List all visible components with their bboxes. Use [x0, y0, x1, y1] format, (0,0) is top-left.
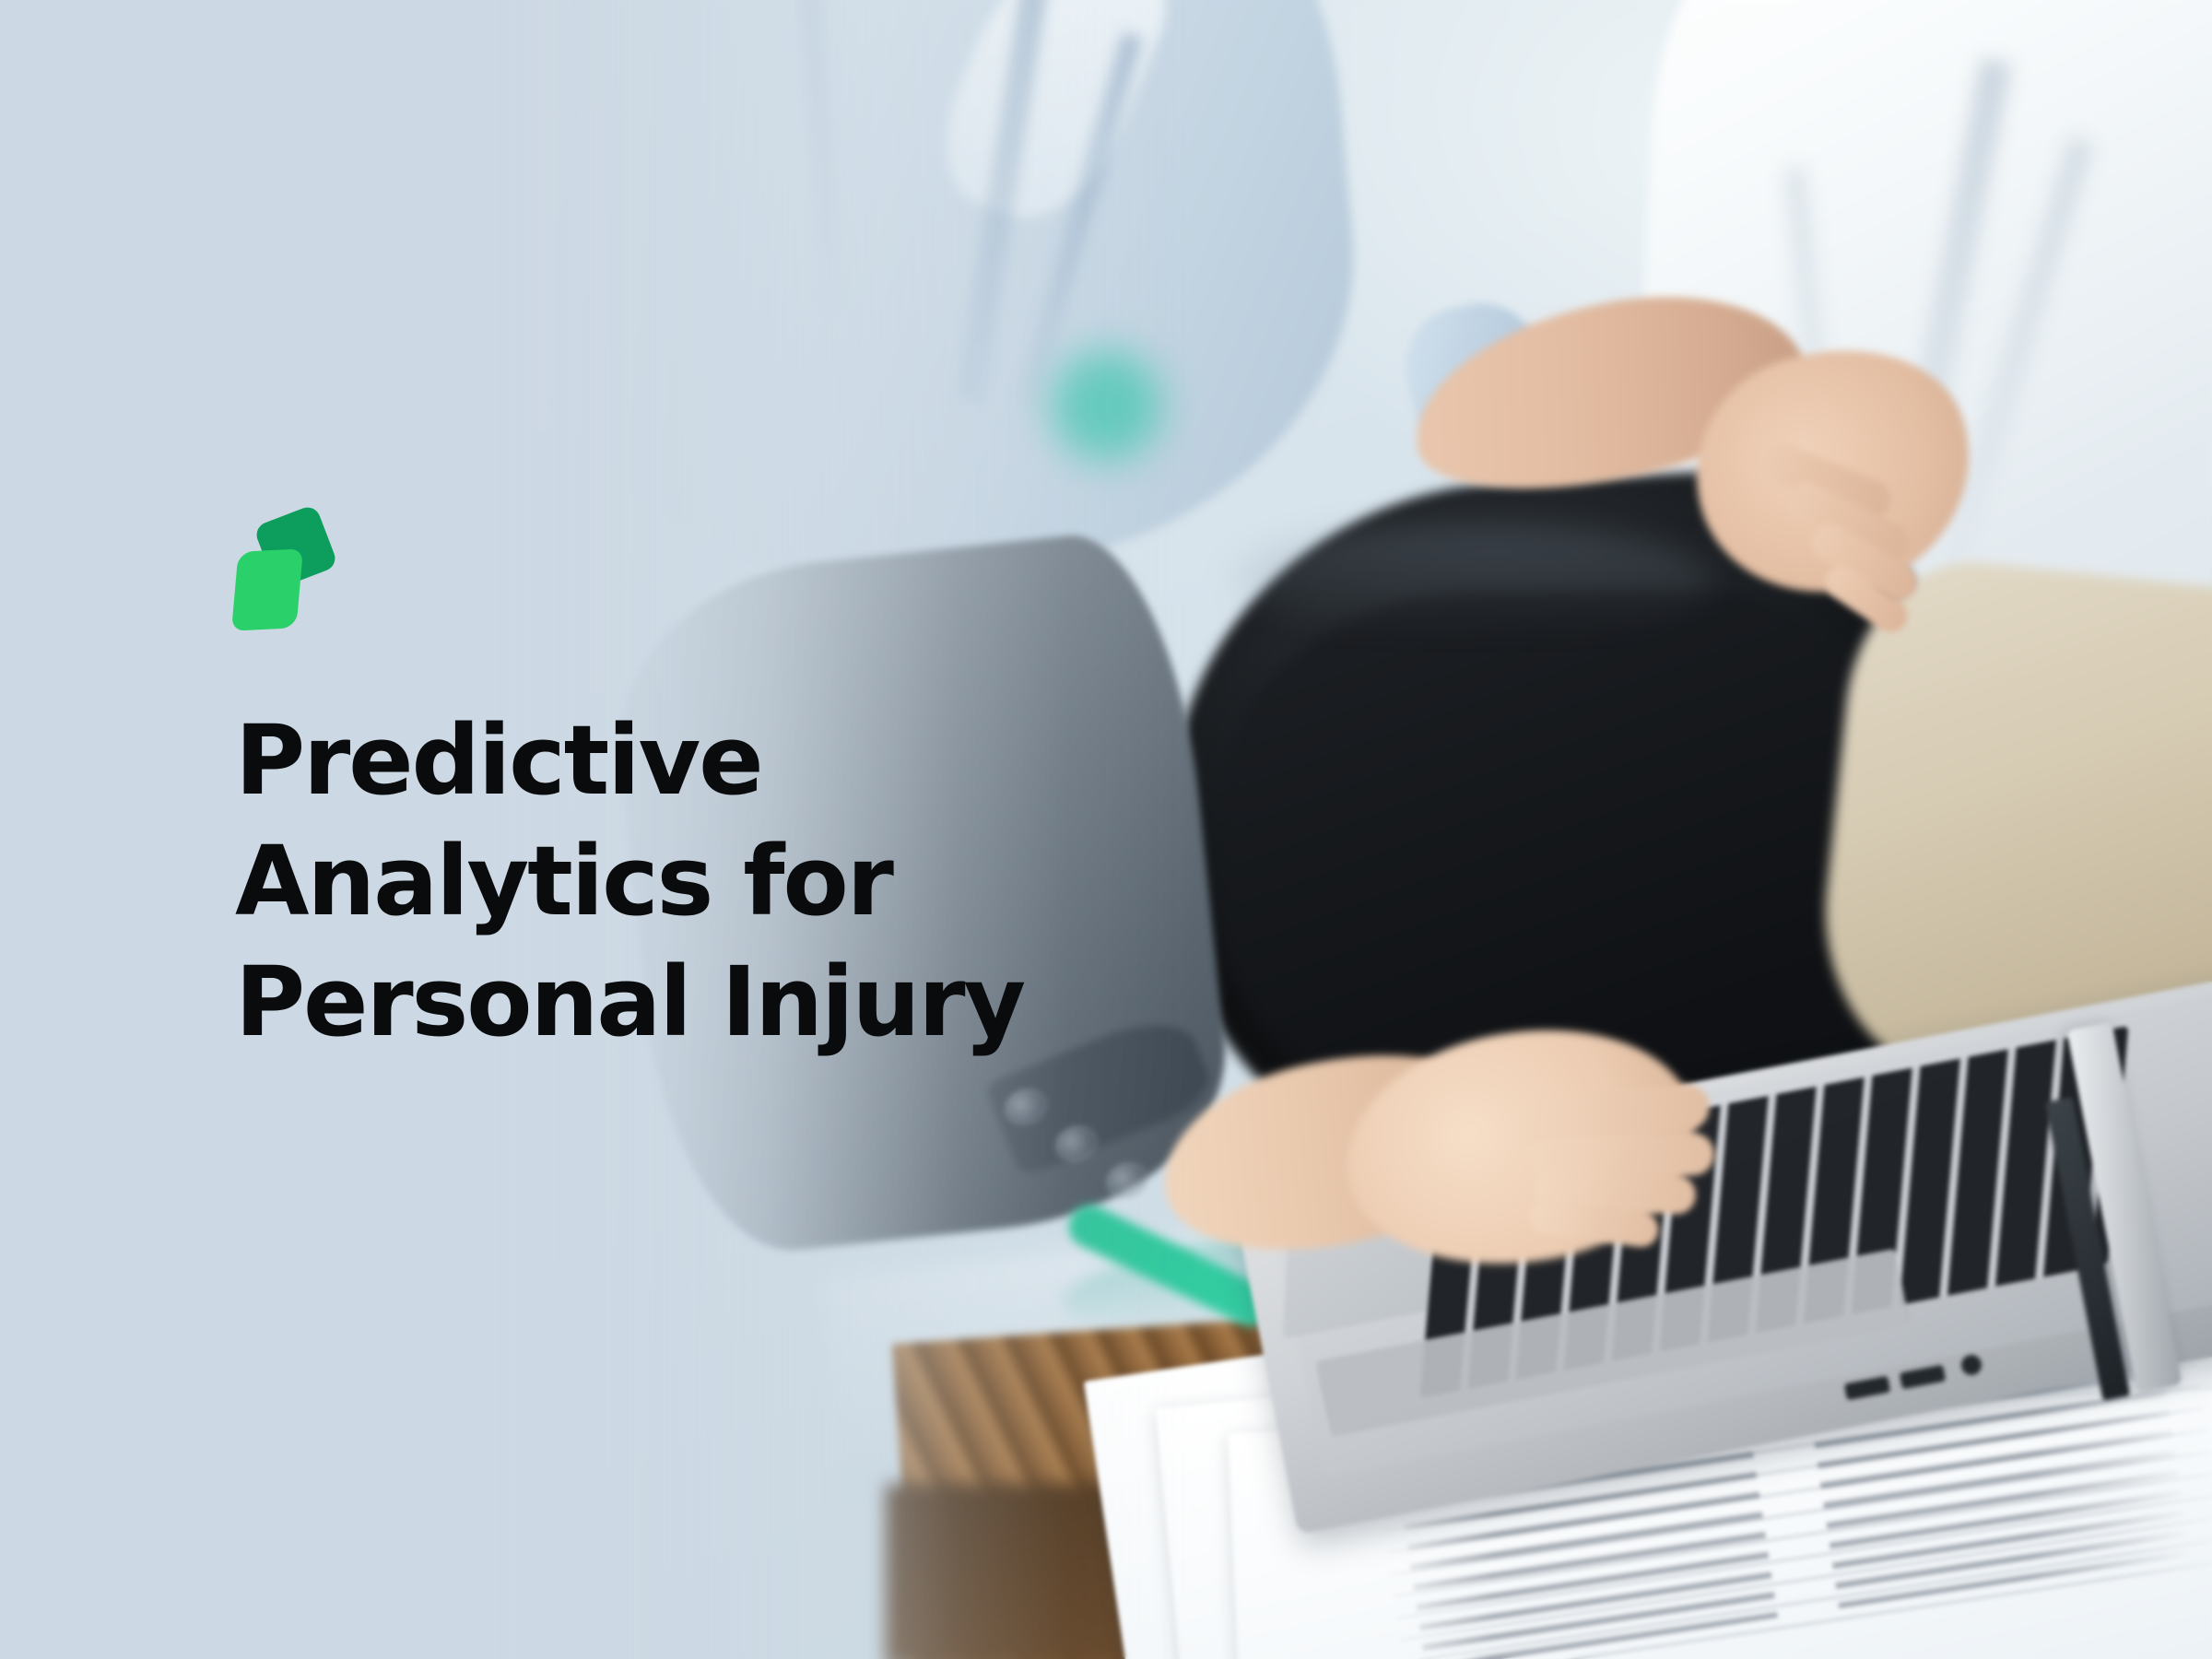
brand-logo[interactable] — [235, 513, 320, 622]
trouser-sheen — [1235, 525, 1714, 636]
page-title: Predictive Analytics for Personal Injury — [235, 700, 1101, 1063]
logo-front-shape-icon — [231, 548, 303, 631]
headline-line-1: Predictive — [235, 700, 1101, 821]
slide-content: Predictive Analytics for Personal Injury — [235, 0, 1157, 1659]
slide-canvas: Predictive Analytics for Personal Injury — [0, 0, 2212, 1659]
dark-trousers-shadow — [1217, 590, 1880, 1106]
headline-line-3: Personal Injury — [235, 942, 1101, 1063]
headline-line-2: Analytics for — [235, 821, 1101, 942]
